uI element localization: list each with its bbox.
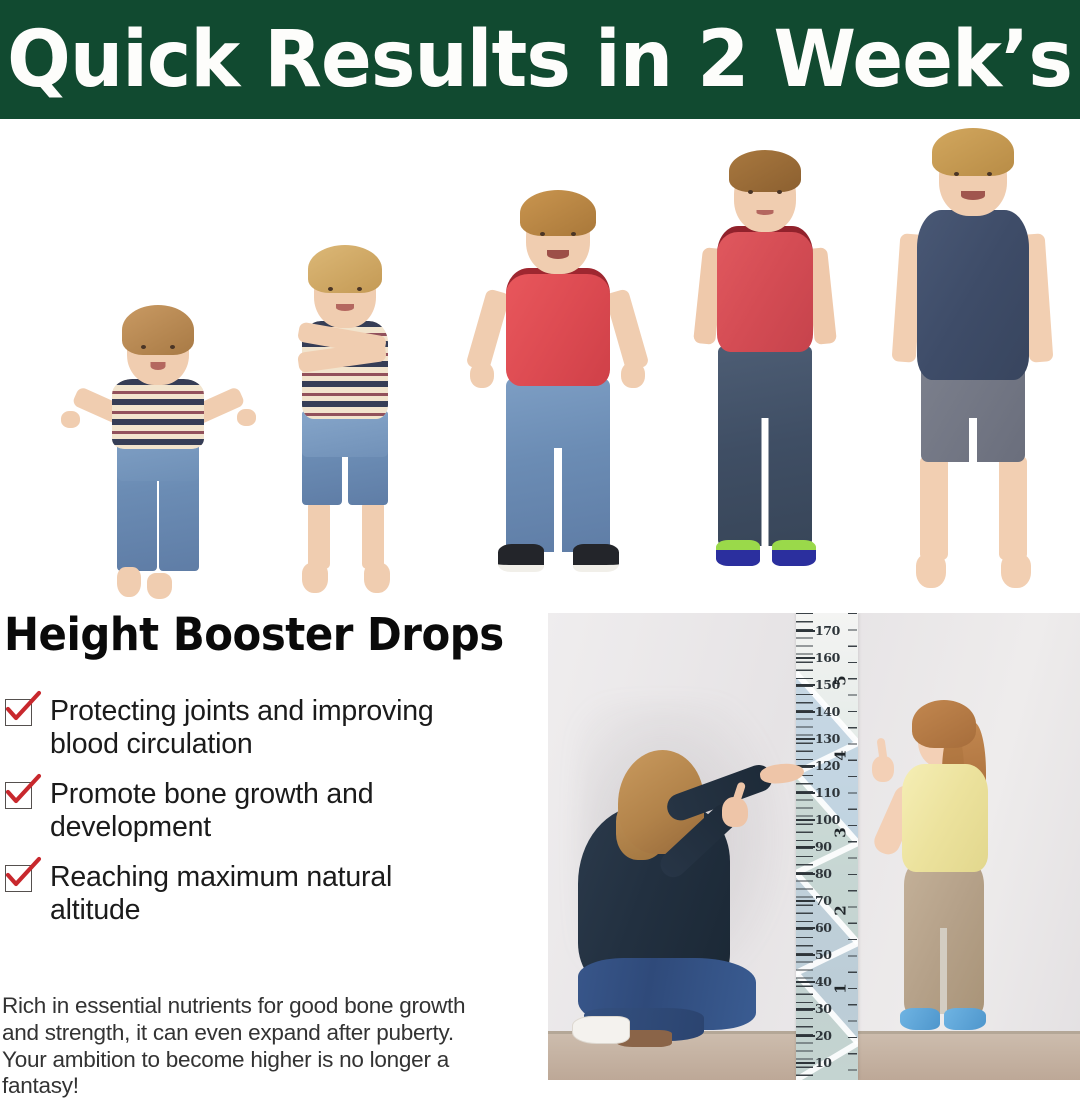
benefit-text: Reaching maximum natural altitude	[50, 861, 480, 927]
foot-left	[302, 563, 328, 593]
hand-right	[621, 362, 645, 388]
ft-label: 3	[833, 827, 848, 837]
benefit-text: Protecting joints and improving blood ci…	[50, 695, 480, 761]
cm-label: 100	[815, 814, 840, 827]
face	[320, 287, 370, 317]
checkmark-icon	[5, 782, 34, 811]
child-figure-3	[470, 190, 645, 600]
cm-label: 30	[815, 1003, 832, 1016]
foot-left	[117, 567, 141, 597]
product-title: Height Booster Drops	[4, 612, 504, 657]
denim-shorts	[302, 411, 388, 507]
hand-right	[237, 409, 256, 426]
height-measurement-photo: 170 160 150 140 130 120 110 100 90 80 70…	[548, 613, 1080, 1080]
child-figure-1	[55, 305, 260, 600]
red-tee	[717, 226, 813, 352]
child-figure-2	[280, 245, 410, 600]
leg-gap	[940, 928, 947, 1014]
hair	[308, 245, 382, 293]
benefits-list: Protecting joints and improving blood ci…	[0, 695, 540, 944]
hair	[520, 190, 596, 236]
arm-right	[604, 288, 649, 372]
child-figure	[874, 692, 1034, 1052]
growth-chart-ruler: 170 160 150 140 130 120 110 100 90 80 70…	[796, 613, 858, 1080]
growth-progression-photo	[0, 119, 1080, 600]
cm-label: 170	[815, 625, 840, 638]
face	[740, 190, 790, 224]
face	[532, 232, 584, 264]
checkmark-icon	[5, 699, 34, 728]
hair	[932, 128, 1014, 176]
index-finger	[877, 738, 888, 761]
hand-left	[61, 411, 80, 428]
ft-label: 2	[833, 905, 848, 915]
cm-label: 80	[815, 868, 832, 881]
benefit-item: Protecting joints and improving blood ci…	[0, 695, 540, 761]
benefit-item: Reaching maximum natural altitude	[0, 861, 540, 927]
cm-label: 160	[815, 652, 840, 665]
shoe-left	[498, 544, 544, 572]
navy-tee	[917, 210, 1029, 380]
cm-label: 130	[815, 733, 840, 746]
foot-left	[916, 554, 946, 588]
cm-label: 120	[815, 760, 840, 773]
benefit-text: Promote bone growth and development	[50, 778, 480, 844]
cm-label: 40	[815, 976, 832, 989]
shirt	[112, 379, 204, 449]
cm-label: 50	[815, 949, 832, 962]
checkmark-icon	[5, 865, 34, 894]
cm-label: 10	[815, 1057, 832, 1070]
header-banner: Quick Results in 2 Week’s	[0, 0, 1080, 119]
white-sneaker	[572, 1016, 630, 1044]
shoe-right	[944, 1008, 986, 1030]
ft-label: 1	[833, 983, 848, 993]
red-tee	[506, 268, 610, 386]
arm-left	[465, 288, 510, 372]
cm-label: 140	[815, 706, 840, 719]
face	[945, 172, 1001, 206]
adult-figure	[572, 720, 797, 1050]
yellow-tshirt	[902, 764, 988, 872]
hair	[912, 700, 976, 748]
cm-label: 110	[815, 787, 840, 800]
foot-right	[147, 573, 172, 599]
cm-label: 60	[815, 922, 832, 935]
foot-right	[1001, 554, 1031, 588]
benefit-item: Promote bone growth and development	[0, 778, 540, 844]
cm-label: 90	[815, 841, 832, 854]
foot-right	[364, 563, 390, 593]
shoe-left	[900, 1008, 940, 1030]
child-figure-5	[890, 128, 1055, 600]
shoe-right	[772, 540, 816, 566]
shoe-left	[716, 540, 760, 566]
cm-label: 20	[815, 1030, 832, 1043]
ft-label: 5	[833, 675, 848, 685]
child-figure-4	[690, 150, 840, 600]
product-info-panel: Height Booster Drops Protecting joints a…	[0, 600, 540, 1080]
product-footnote: Rich in essential nutrients for good bon…	[2, 993, 472, 1100]
shoe-right	[573, 544, 619, 572]
cm-label: 70	[815, 895, 832, 908]
ft-label: 4	[833, 750, 848, 760]
face	[133, 345, 183, 375]
banner-title: Quick Results in 2 Week’s	[8, 21, 1073, 99]
hand-left	[470, 362, 494, 388]
hair	[729, 150, 801, 192]
